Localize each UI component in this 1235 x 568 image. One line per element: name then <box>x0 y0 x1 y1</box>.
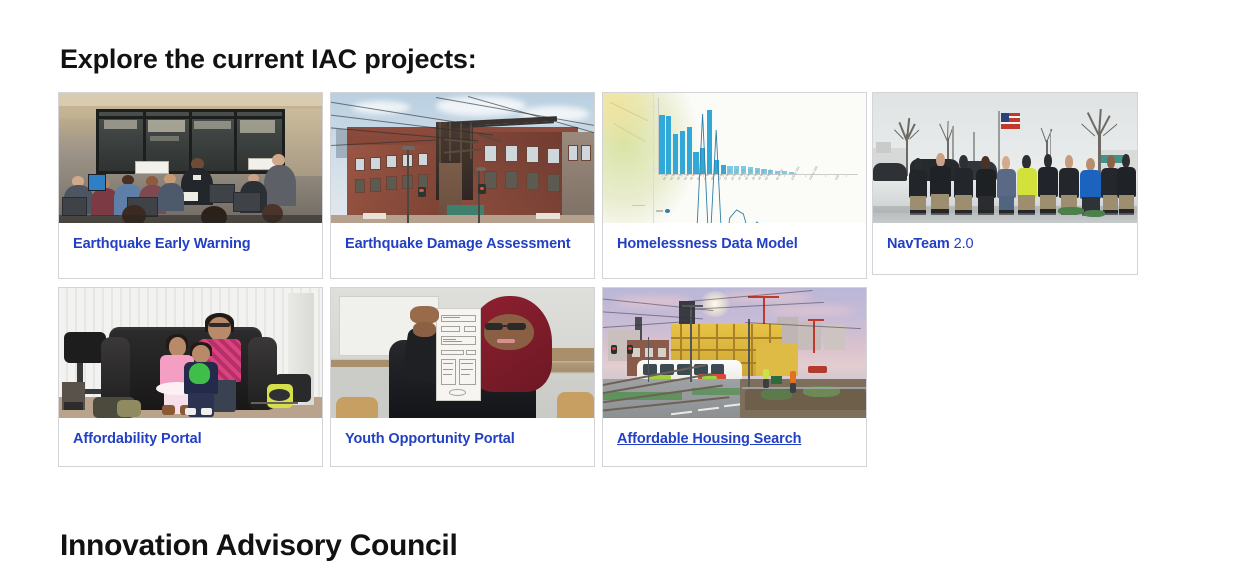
project-link[interactable]: Homelessness Data Model <box>617 236 798 252</box>
project-card[interactable]: Earthquake Damage Assessment <box>330 92 595 279</box>
project-card-body: Earthquake Early Warning <box>59 223 322 253</box>
project-link[interactable]: Earthquake Early Warning <box>73 236 251 252</box>
project-card-body: Affordability Portal <box>59 418 322 448</box>
project-link-main: NavTeam <box>887 236 950 252</box>
project-card-body: Homelessness Data Model <box>603 223 866 253</box>
project-thumbnail-earthquake-damage-assessment <box>331 93 594 223</box>
project-card-body: Affordable Housing Search <box>603 418 866 448</box>
project-thumbnail-affordability-portal <box>59 288 322 418</box>
project-card[interactable]: Affordable Housing Search <box>602 287 867 467</box>
project-card-body: Earthquake Damage Assessment <box>331 223 594 253</box>
project-card-body: Youth Opportunity Portal <box>331 418 594 448</box>
project-card[interactable]: 01 to 01 02 to 02 03 to 03 04 to 04 05 t… <box>602 92 867 279</box>
project-thumbnail-navteam <box>873 93 1137 223</box>
project-link[interactable]: NavTeam 2.0 <box>887 236 974 252</box>
project-card[interactable]: Youth Opportunity Portal <box>330 287 595 467</box>
project-link[interactable]: Affordable Housing Search <box>617 431 801 447</box>
project-thumbnail-youth-opportunity-portal <box>331 288 594 418</box>
project-link[interactable]: Youth Opportunity Portal <box>345 431 515 447</box>
page-title: Explore the current IAC projects: <box>60 44 477 75</box>
project-card[interactable]: Earthquake Early Warning <box>58 92 323 279</box>
project-card[interactable]: Affordability Portal <box>58 287 323 467</box>
project-thumbnail-homelessness-data-model: 01 to 01 02 to 02 03 to 03 04 to 04 05 t… <box>603 93 866 223</box>
page-root: Explore the current IAC projects: <box>0 0 1235 568</box>
project-card-body: NavTeam 2.0 <box>873 223 1137 253</box>
section-title: Innovation Advisory Council <box>60 529 458 563</box>
project-link[interactable]: Affordability Portal <box>73 431 202 447</box>
project-thumbnail-earthquake-early-warning <box>59 93 322 223</box>
project-link[interactable]: Earthquake Damage Assessment <box>345 236 571 252</box>
project-link-version: 2.0 <box>954 236 974 252</box>
project-thumbnail-affordable-housing-search <box>603 288 866 418</box>
project-card[interactable]: NavTeam 2.0 <box>872 92 1138 275</box>
